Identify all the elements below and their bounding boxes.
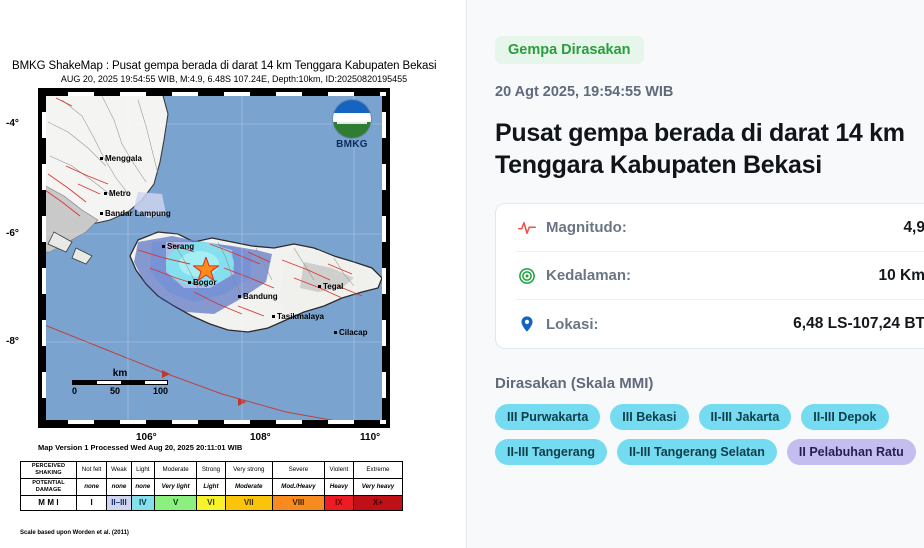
felt-tag[interactable]: II-III Tangerang Selatan: [617, 439, 777, 465]
axis-y-label-2: -6°: [6, 228, 19, 239]
info-label-magnitudo: Magnitudo:: [546, 219, 627, 236]
info-label-lokasi: Lokasi:: [546, 316, 599, 333]
info-row-magnitudo: Magnitudo: 4,9: [516, 204, 924, 252]
shakemap-panel: BMKG ShakeMap : Pusat gempa berada di da…: [0, 0, 467, 548]
map-version-footer: Map Version 1 Processed Wed Aug 20, 2025…: [38, 443, 242, 452]
legend-cell: Severe: [272, 462, 324, 479]
depth-target-icon: [516, 265, 538, 287]
legend-cell: Heavy: [324, 478, 353, 495]
earthquake-timestamp: 20 Agt 2025, 19:54:55 WIB: [495, 84, 924, 100]
shakemap-map[interactable]: Menggala Metro Bandar Lampung Serang Bog…: [38, 88, 390, 428]
axis-y-label-1: -4°: [6, 118, 19, 129]
scale-tick-labels: 0 50 100: [72, 386, 168, 396]
legend-cell: Not felt: [77, 462, 107, 479]
mmi-cell: I: [77, 495, 107, 510]
legend-cell: Very strong: [225, 462, 272, 479]
table-row: PERCEIVED SHAKING Not felt Weak Light Mo…: [21, 462, 403, 479]
info-row-kedalaman: Kedalaman: 10 Km: [516, 252, 924, 300]
legend-cell: Very heavy: [353, 478, 402, 495]
legend-cell: none: [77, 478, 107, 495]
city-label: Cilacap: [334, 328, 367, 337]
legend-cell: Moderate: [154, 462, 196, 479]
axis-x-label-3: 110°: [360, 432, 380, 443]
mmi-cell: X+: [353, 495, 402, 510]
felt-tag[interactable]: III Bekasi: [610, 404, 688, 430]
info-row-lokasi: Lokasi: 6,48 LS-107,24 BT: [516, 300, 924, 348]
bmkg-disc-icon: [333, 100, 371, 138]
mmi-cell: IV: [131, 495, 154, 510]
legend-cell: Very light: [154, 478, 196, 495]
shakemap-title: BMKG ShakeMap : Pusat gempa berada di da…: [12, 60, 456, 72]
legend-cell: none: [107, 478, 132, 495]
legend-cell: Weak: [107, 462, 132, 479]
scale-bar-line: [72, 380, 168, 385]
felt-section-heading: Dirasakan (Skala MMI): [495, 375, 924, 392]
legend-cell: Violent: [324, 462, 353, 479]
scale-unit-label: km: [72, 368, 168, 379]
row-header-mmi: M M I: [21, 495, 77, 510]
city-label: Metro: [104, 189, 131, 198]
scale-tick: 100: [153, 386, 168, 396]
row-header-perceived-shaking: PERCEIVED SHAKING: [21, 462, 77, 479]
table-row: M M I I II–III IV V VI VII VIII IX X+: [21, 495, 403, 510]
pulse-icon: [516, 217, 538, 239]
info-value-lokasi: 6,48 LS-107,24 BT: [793, 315, 924, 333]
city-label: Bandar Lampung: [100, 209, 171, 218]
mmi-cell: VII: [225, 495, 272, 510]
map-scale-bar: km 0 50 100: [72, 368, 168, 396]
legend-source-note: Scale based upon Worden et al. (2011): [20, 530, 129, 536]
info-value-kedalaman: 10 Km: [878, 267, 924, 285]
map-pin-icon: [516, 313, 538, 335]
bmkg-logo: BMKG: [328, 100, 376, 150]
scale-tick: 50: [110, 386, 120, 396]
scale-tick: 0: [72, 386, 77, 396]
row-header-potential-damage: POTENTIAL DAMAGE: [21, 478, 77, 495]
status-badge: Gempa Dirasakan: [495, 36, 644, 64]
info-value-magnitudo: 4,9: [903, 219, 924, 237]
city-label: Tasikmalaya: [272, 312, 324, 321]
legend-cell: Light: [197, 478, 225, 495]
mmi-legend-table: PERCEIVED SHAKING Not felt Weak Light Mo…: [20, 461, 403, 511]
felt-tag[interactable]: II-III Jakarta: [699, 404, 792, 430]
axis-x-label-2: 108°: [250, 432, 271, 443]
mmi-cell: V: [154, 495, 196, 510]
legend-cell: none: [131, 478, 154, 495]
felt-tag-list: III Purwakarta III Bekasi II-III Jakarta…: [495, 404, 924, 465]
earthquake-info-card: Magnitudo: 4,9 Kedalaman: 10 Km Lok: [495, 203, 924, 349]
axis-y-label-3: -8°: [6, 336, 19, 347]
page-title: Pusat gempa berada di darat 14 km Tengga…: [495, 118, 915, 181]
felt-tag[interactable]: II Pelabuhan Ratu: [787, 439, 916, 465]
bmkg-logo-text: BMKG: [328, 139, 376, 150]
earthquake-detail-panel: Gempa Dirasakan 20 Agt 2025, 19:54:55 WI…: [467, 0, 924, 548]
mmi-cell: VIII: [272, 495, 324, 510]
legend-cell: Strong: [197, 462, 225, 479]
felt-tag[interactable]: II-III Tangerang: [495, 439, 607, 465]
city-label: Bandung: [238, 292, 278, 301]
axis-x-label-1: 106°: [136, 432, 157, 443]
felt-tag[interactable]: III Purwakarta: [495, 404, 600, 430]
felt-tag[interactable]: II-III Depok: [801, 404, 888, 430]
shakemap-subtitle: AUG 20, 2025 19:54:55 WIB, M:4.9, 6.48S …: [12, 74, 456, 84]
table-row: POTENTIAL DAMAGE none none none Very lig…: [21, 478, 403, 495]
mmi-cell: IX: [324, 495, 353, 510]
legend-cell: Extreme: [353, 462, 402, 479]
mmi-cell: II–III: [107, 495, 132, 510]
legend-cell: Moderate: [225, 478, 272, 495]
legend-cell: Light: [131, 462, 154, 479]
city-label: Serang: [162, 242, 194, 251]
info-label-kedalaman: Kedalaman:: [546, 267, 631, 284]
city-label: Menggala: [100, 154, 142, 163]
city-label: Tegal: [318, 282, 343, 291]
mmi-cell: VI: [197, 495, 225, 510]
legend-cell: Mod./Heavy: [272, 478, 324, 495]
